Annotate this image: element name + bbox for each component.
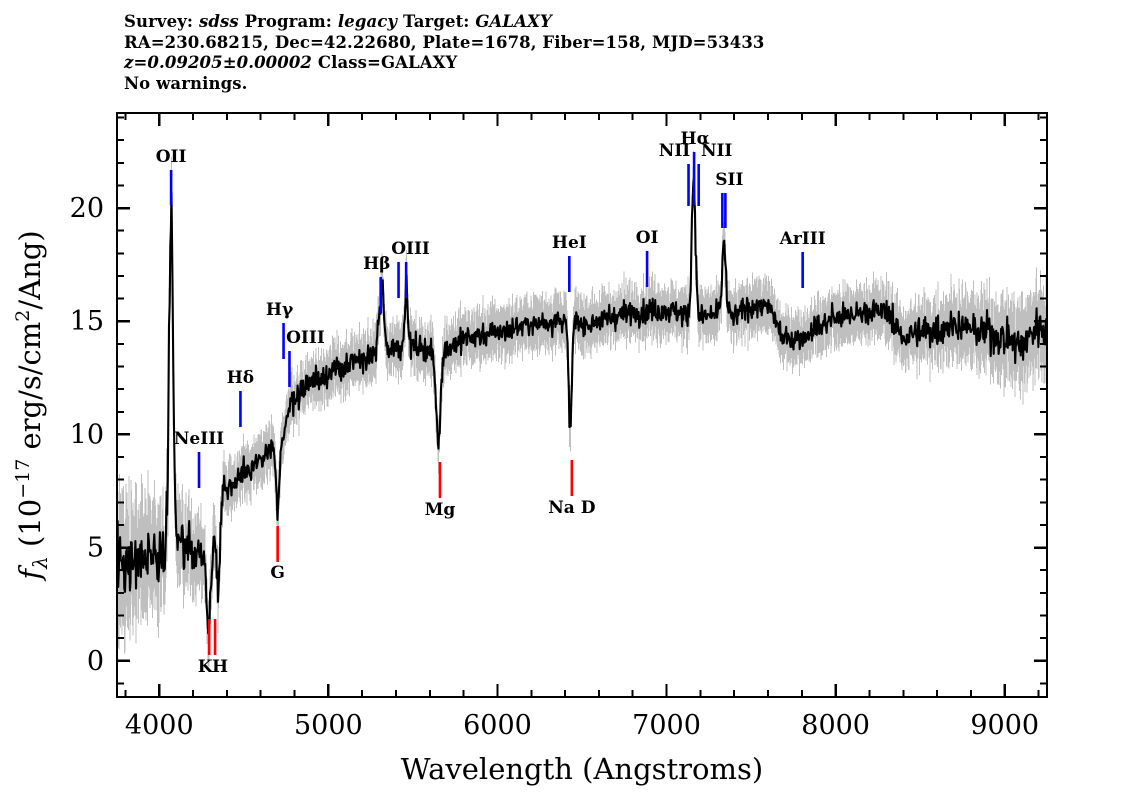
plot-border [117,113,1047,697]
line-marker-label-ArIII: ArIII [779,229,826,249]
y-tick-label: 0 [87,646,104,677]
axes-frame [117,113,1047,697]
line-marker-label-OIII_4363: OIII [286,328,325,348]
line-marker-NeIII[interactable]: NeIII [174,429,224,488]
line-marker-label-SII_6716: SII [715,170,743,190]
x-axis-title: Wavelength (Angstroms) [401,752,763,786]
x-tick-label: 9000 [970,710,1039,741]
x-tick-label: 4000 [125,710,194,741]
line-marker-label-G: G [270,563,285,583]
line-marker-NaD[interactable]: Na D [548,460,595,518]
line-marker-label-NaD: Na D [548,498,595,518]
line-marker-label-HeI: HeI [552,233,587,253]
axis-ticks [117,113,1047,697]
line-marker-label-Hbeta: Hβ [363,254,390,274]
line-marker-G[interactable]: G [270,526,285,583]
x-tick-label: 7000 [632,710,701,741]
x-tick-label: 5000 [294,710,363,741]
line-marker-label-Mg: Mg [425,500,456,520]
y-axis-title: fλ (10−17 erg/s/cm2/Ang) [12,230,52,581]
spectrum-plot: OIINeIIIKHHδGHγOIIIHβOIIIMgHeINa DOINIIH… [0,0,1134,810]
line-marker-OII[interactable]: OII [156,147,187,205]
error-band [117,151,1047,667]
line-marker-NII_6548[interactable]: NII [659,141,690,206]
line-markers: OIINeIIIKHHδGHγOIIIHβOIIIMgHeINa DOINIIH… [156,129,826,677]
line-marker-label-NeIII: NeIII [174,429,224,449]
line-marker-ArIII[interactable]: ArIII [779,229,826,288]
line-marker-label-Hgamma: Hγ [266,300,294,320]
line-marker-label-H: H [212,657,228,677]
line-marker-Mg[interactable]: Mg [425,462,456,520]
x-tick-label: 8000 [801,710,870,741]
y-tick-label: 5 [87,533,104,564]
line-marker-Hbeta[interactable]: Hβ [363,254,390,313]
line-marker-OIII_4959[interactable]: OIII [391,239,430,298]
line-marker-label-Hdelta: Hδ [227,368,254,388]
line-marker-label-OII: OII [156,147,187,167]
x-tick-label: 6000 [463,710,532,741]
line-marker-label-NII_6584: NII [701,141,732,161]
error-band-path [117,151,1047,667]
line-marker-Hdelta[interactable]: Hδ [227,368,254,427]
y-tick-label: 10 [70,419,104,450]
line-marker-HeI[interactable]: HeI [552,233,587,292]
y-tick-label: 20 [70,193,104,224]
plot-area [117,151,1047,667]
y-tick-label: 15 [70,306,104,337]
line-marker-label-OI: OI [636,228,659,248]
line-marker-H[interactable]: H [212,619,228,677]
spectrum-viewer: Survey: sdss Program: legacy Target: GAL… [0,0,1134,810]
line-marker-label-OIII_4959: OIII [391,239,430,259]
line-marker-SII_6716[interactable]: SII [715,170,743,228]
